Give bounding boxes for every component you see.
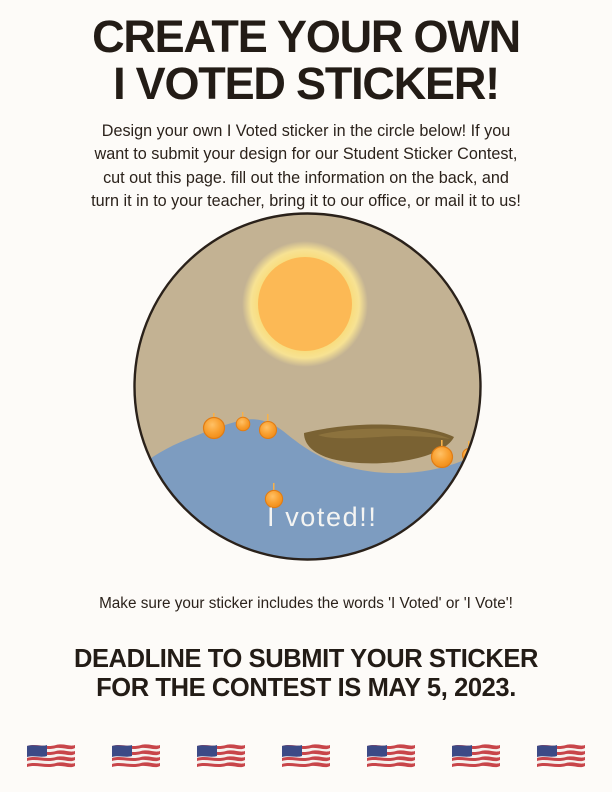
deadline-line-2: FOR THE CONTEST IS MAY 5, 2023. <box>0 674 612 703</box>
deadline-suffix: . <box>509 674 516 702</box>
flag-row <box>0 742 612 775</box>
american-flag-icon <box>111 742 161 775</box>
american-flag-icon <box>536 742 586 775</box>
headline-line-2: I VOTED STICKER! <box>0 61 612 106</box>
reminder-text: Make sure your sticker includes the word… <box>0 595 612 613</box>
intro-line-1: Design your own I Voted sticker in the c… <box>28 120 584 143</box>
sun-core <box>258 257 352 351</box>
intro-line-2: want to submit your design for our Stude… <box>28 143 584 166</box>
page-title: CREATE YOUR OWN I VOTED STICKER! <box>0 0 612 106</box>
sticker-caption: I voted!! <box>267 502 377 532</box>
american-flag-icon <box>451 742 501 775</box>
intro-line-3: cut out this page. fill out the informat… <box>28 167 584 190</box>
american-flag-icon <box>281 742 331 775</box>
headline-line-1: CREATE YOUR OWN <box>0 14 612 61</box>
american-flag-icon <box>366 742 416 775</box>
deadline-block: DEADLINE TO SUBMIT YOUR STICKER FOR THE … <box>0 645 612 702</box>
poster-page: CREATE YOUR OWN I VOTED STICKER! Design … <box>0 0 612 792</box>
sticker-design-area[interactable]: I voted!! <box>132 211 483 562</box>
intro-paragraph: Design your own I Voted sticker in the c… <box>28 120 584 214</box>
american-flag-icon <box>196 742 246 775</box>
deadline-line-1: DEADLINE TO SUBMIT YOUR STICKER <box>0 645 612 674</box>
american-flag-icon <box>26 742 76 775</box>
deadline-prefix: FOR THE CONTEST IS <box>96 674 368 702</box>
deadline-date: MAY 5, 2023 <box>368 674 510 702</box>
sticker-illustration: I voted!! <box>132 211 483 562</box>
